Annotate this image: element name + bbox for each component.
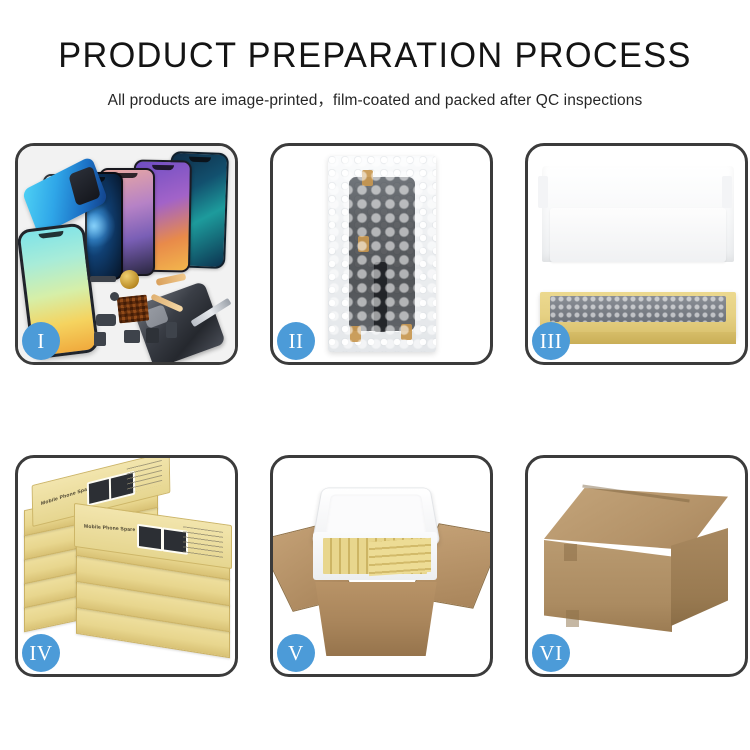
carton-tape-patch <box>564 544 577 561</box>
page-title: PRODUCT PREPARATION PROCESS <box>8 38 743 75</box>
bubble-wrap-layer-icon <box>550 296 726 322</box>
tape-tab-icon <box>358 236 369 252</box>
carton-tape-patch <box>566 610 579 627</box>
page-subtitle: All products are image-printed，film-coat… <box>0 88 750 110</box>
flex-cable-icon <box>156 273 187 286</box>
spare-parts-cluster <box>90 270 208 356</box>
part-block-icon <box>96 314 116 326</box>
box-spec-lines <box>127 460 163 493</box>
tape-tab-icon <box>401 324 412 340</box>
process-panel-grid: I II <box>15 143 748 677</box>
box-window-icon <box>137 524 163 552</box>
panel-number-badge: VI <box>532 634 570 672</box>
panel-number-badge: V <box>277 634 315 672</box>
panel-number-badge: III <box>532 322 570 360</box>
panel-number-badge: II <box>277 322 315 360</box>
part-screw-icon <box>110 292 119 301</box>
bubble-wrap-bag-icon <box>328 156 436 352</box>
panel-open-kraft-box[interactable]: III <box>525 143 748 365</box>
panel-sealed-carton[interactable]: VI <box>525 455 748 677</box>
part-block-icon <box>124 330 140 343</box>
carton-body-icon <box>307 582 445 656</box>
part-block-icon <box>146 328 159 343</box>
tape-tab-icon <box>350 326 361 342</box>
tape-tab-icon <box>362 170 373 186</box>
box-stack: Mobile Phone Spare Parts Mobile Phone Sp… <box>24 466 230 664</box>
speaker-mesh-icon <box>120 270 139 289</box>
part-block-icon <box>94 332 106 346</box>
box-spec-lines <box>183 526 224 558</box>
panel-stacked-boxes[interactable]: Mobile Phone Spare Parts Mobile Phone Sp… <box>15 455 238 677</box>
screw-tray-icon <box>117 295 150 324</box>
part-block-icon <box>166 322 177 338</box>
part-strip-icon <box>90 276 116 282</box>
panel-bubble-wrapped-screen[interactable]: II <box>270 143 493 365</box>
flex-cable-icon <box>150 293 184 312</box>
panel-number-badge: IV <box>22 634 60 672</box>
foam-pad-icon <box>542 166 734 262</box>
flex-cable-icon <box>373 262 386 332</box>
panel-parts-overview[interactable]: I <box>15 143 238 365</box>
page-header: PRODUCT PREPARATION PROCESS All products… <box>0 0 750 110</box>
panel-foam-carton[interactable]: V <box>270 455 493 677</box>
yellow-packages-icon <box>369 538 431 576</box>
panel-number-badge: I <box>22 322 60 360</box>
